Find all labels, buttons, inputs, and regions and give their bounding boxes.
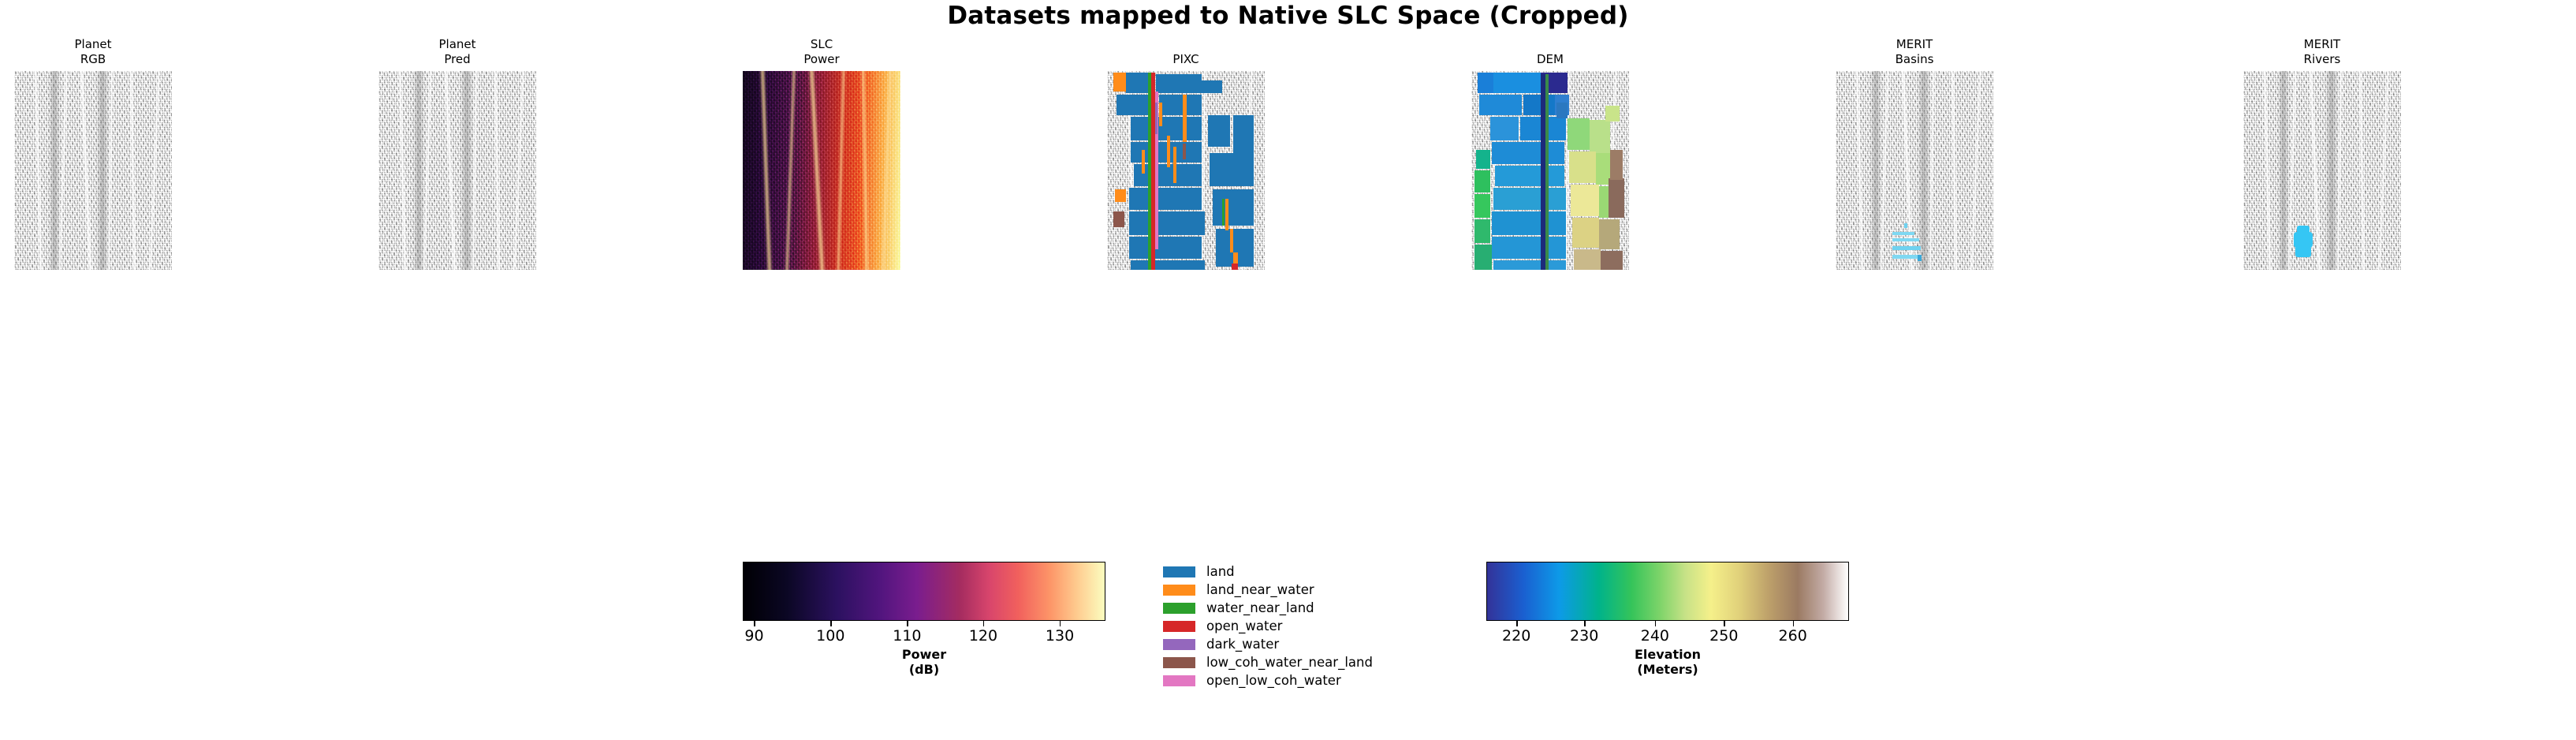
legend-item[interactable]: low_coh_water_near_land — [1163, 653, 1373, 671]
colorbar-label-line2: (Meters) — [1635, 662, 1701, 677]
legend-swatch-land-near-water — [1163, 585, 1195, 596]
colorbar-tick-label: 130 — [1046, 627, 1074, 645]
panel-title-line1: DEM — [1537, 52, 1564, 66]
panel-title-line1: SLC — [803, 37, 839, 51]
colorbar-tick-label: 120 — [969, 627, 997, 645]
panel-title-planet-rgb: Planet RGB — [74, 37, 111, 66]
legend-label: land — [1206, 564, 1235, 579]
colorbar-tick-label: 100 — [816, 627, 844, 645]
legend-swatch-open-water — [1163, 621, 1195, 632]
panel-title-pixc: PIXC — [1172, 52, 1199, 66]
legend-swatch-open-low-coh-water — [1163, 675, 1195, 686]
slc-power-image — [743, 71, 900, 270]
colorbar-axis-label-elevation: Elevation (Meters) — [1635, 647, 1701, 677]
dem-elevation-colorbar[interactable]: 220 230 240 250 260 Elevation (Meters) — [1486, 562, 1849, 621]
dem-image — [1471, 71, 1629, 270]
slc-power-colorbar[interactable]: 90 100 110 120 130 Power (dB) — [743, 562, 1105, 621]
panel-title-planet-pred: Planet Pred — [438, 37, 475, 66]
planet-rgb-image — [14, 71, 172, 270]
colorbar-tick-label: 250 — [1709, 627, 1738, 645]
colorbar-tick-label: 260 — [1779, 627, 1807, 645]
panel-planet-pred[interactable]: Planet Pred — [378, 71, 536, 270]
panel-title-line2: RGB — [74, 52, 111, 66]
colorbar-label-line1: Elevation — [1635, 647, 1701, 662]
colorbar-tick-label: 220 — [1502, 627, 1530, 645]
legend-item[interactable]: land_near_water — [1163, 581, 1373, 599]
panel-title-line1: MERIT — [2304, 37, 2341, 51]
panel-planet-rgb[interactable]: Planet RGB — [14, 71, 172, 270]
pixc-legend[interactable]: land land_near_water water_near_land ope… — [1163, 562, 1373, 690]
panel-title-line2: Pred — [438, 52, 475, 66]
bright-lineaments — [14, 71, 172, 270]
legend-swatch-water-near-land — [1163, 603, 1195, 614]
colorbar-axis-label-power: Power (dB) — [902, 647, 946, 677]
colorbar-label-line1: Power — [902, 647, 946, 662]
panel-title-line1: Planet — [74, 37, 111, 51]
legend-item[interactable]: open_low_coh_water — [1163, 671, 1373, 690]
panel-pixc[interactable]: PIXC — [1107, 71, 1265, 270]
legend-swatch-low-coh-water-near-land — [1163, 657, 1195, 668]
legend-item[interactable]: land — [1163, 562, 1373, 581]
panel-dem[interactable]: DEM — [1471, 71, 1629, 270]
panel-title-line2: Power — [803, 52, 839, 66]
legend-item[interactable]: water_near_land — [1163, 599, 1373, 617]
merit-rivers-image — [2243, 71, 2401, 270]
legend-label: open_water — [1206, 619, 1282, 633]
panel-title-line2: Rivers — [2304, 52, 2341, 66]
panel-title-line1: PIXC — [1172, 52, 1199, 66]
legend-label: land_near_water — [1206, 582, 1314, 597]
colorbar-tick-label: 110 — [893, 627, 921, 645]
legend-swatch-land — [1163, 566, 1195, 577]
panel-title-merit-rivers: MERIT Rivers — [2304, 37, 2341, 66]
bright-lineaments — [378, 71, 536, 270]
panel-title-merit-basins: MERIT Basins — [1896, 37, 1934, 66]
pixc-image — [1107, 71, 1265, 270]
panel-title-line1: MERIT — [1896, 37, 1934, 51]
panel-title-slc-power: SLC Power — [803, 37, 839, 66]
figure-canvas: Datasets mapped to Native SLC Space (Cro… — [0, 0, 2576, 740]
legend-item[interactable]: open_water — [1163, 617, 1373, 635]
panel-slc-power[interactable]: SLC Power — [743, 71, 900, 270]
panel-title-line1: Planet — [438, 37, 475, 51]
legend-label: open_low_coh_water — [1206, 673, 1341, 688]
panel-title-dem: DEM — [1537, 52, 1564, 66]
panel-merit-basins[interactable]: MERIT Basins — [1836, 71, 1993, 270]
colorbar-gradient-terrain — [1486, 562, 1849, 621]
planet-pred-image — [378, 71, 536, 270]
bright-lineaments — [2243, 71, 2401, 270]
legend-item[interactable]: dark_water — [1163, 635, 1373, 653]
legend-label: water_near_land — [1206, 600, 1314, 615]
colorbar-label-line2: (dB) — [902, 662, 946, 677]
merit-basins-image — [1836, 71, 1993, 270]
colorbar-gradient-magma — [743, 562, 1105, 621]
page-title: Datasets mapped to Native SLC Space (Cro… — [0, 2, 2576, 30]
panel-merit-rivers[interactable]: MERIT Rivers — [2243, 71, 2401, 270]
colorbar-tick-label: 240 — [1641, 627, 1669, 645]
panel-title-line2: Basins — [1896, 52, 1934, 66]
legend-label: low_coh_water_near_land — [1206, 655, 1373, 670]
legend-label: dark_water — [1206, 637, 1279, 652]
colorbar-tick-label: 230 — [1570, 627, 1598, 645]
colorbar-tick-label: 90 — [744, 627, 763, 645]
legend-swatch-dark-water — [1163, 639, 1195, 650]
